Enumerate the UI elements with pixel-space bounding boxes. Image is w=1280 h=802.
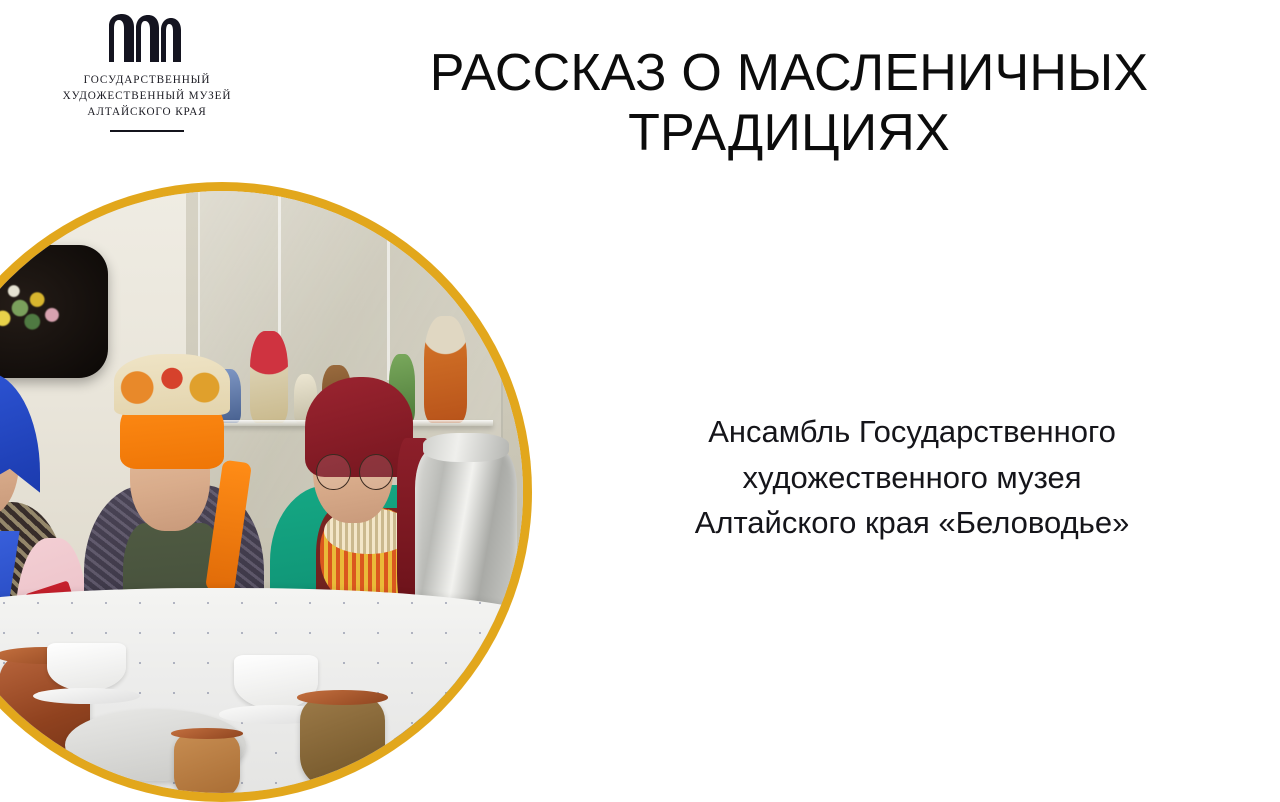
museum-name-line-3: Алтайского края bbox=[52, 105, 242, 121]
museum-name: Государственный художественный музей Алт… bbox=[52, 73, 242, 121]
slide: Государственный художественный музей Алт… bbox=[0, 0, 1280, 720]
museum-name-line-1: Государственный bbox=[52, 73, 242, 89]
museum-name-line-2: художественный музей bbox=[52, 89, 242, 105]
clay-pot bbox=[174, 733, 240, 793]
eyeglasses bbox=[316, 454, 393, 489]
m-monogram-icon bbox=[52, 8, 242, 64]
logo-divider bbox=[110, 130, 184, 132]
floral-kokoshnik bbox=[114, 354, 230, 416]
clay-pot bbox=[300, 697, 384, 787]
photo-circle-ring bbox=[0, 182, 532, 802]
museum-logo: Государственный художественный музей Алт… bbox=[52, 8, 242, 132]
slide-title: РАССКАЗ О МАСЛЕНИЧНЫХ ТРАДИЦИЯХ bbox=[330, 44, 1248, 164]
museum-ensemble-photo bbox=[0, 191, 523, 793]
photo-circle bbox=[0, 191, 523, 793]
slide-caption: Ансамбль Государственного художественног… bbox=[612, 409, 1212, 546]
